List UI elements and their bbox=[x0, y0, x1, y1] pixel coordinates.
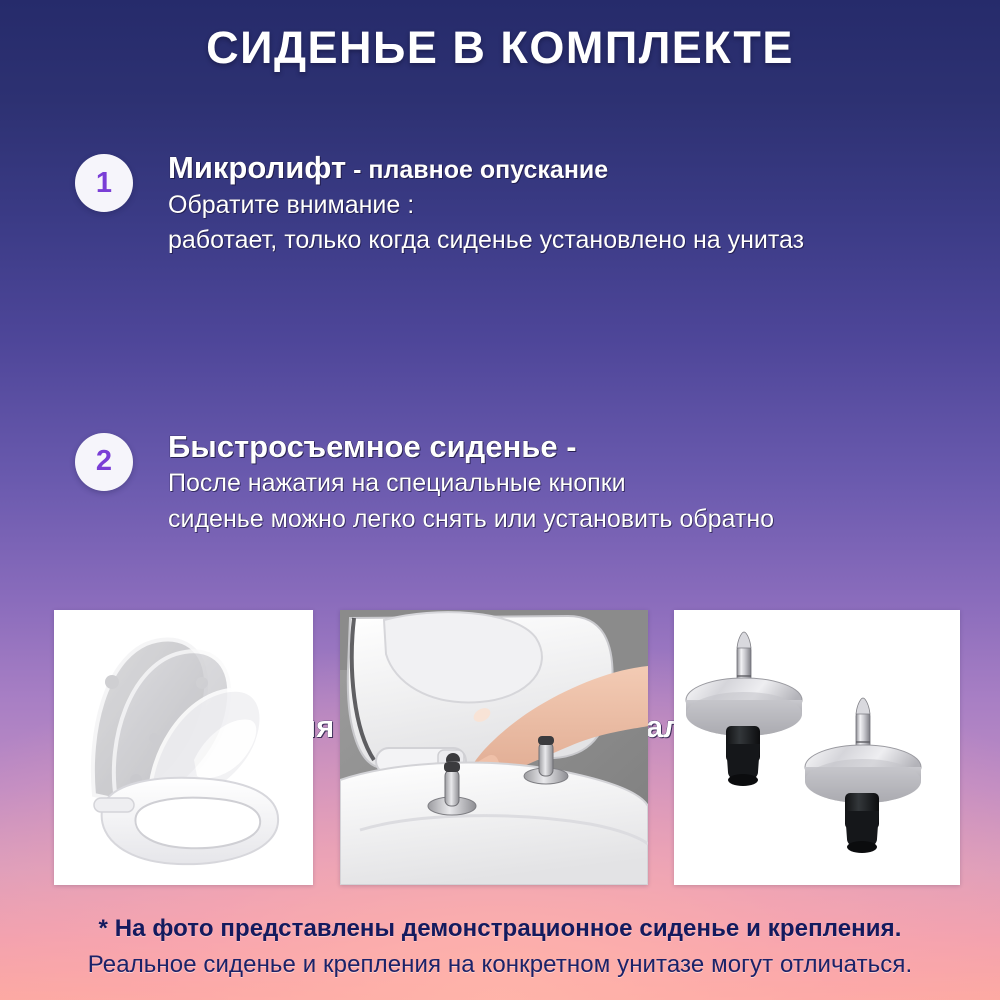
feature-number-badge-1: 1 bbox=[75, 154, 133, 212]
footer-disclaimer: * На фото представлены демонстрационное … bbox=[0, 912, 1000, 983]
quick-release-seat-photo bbox=[340, 610, 648, 885]
photo-panel-quick-release bbox=[340, 610, 648, 885]
footer-line-1: * На фото представлены демонстрационное … bbox=[0, 912, 1000, 947]
feature-heading-1: Микролифт - плавное опускание bbox=[168, 150, 1000, 186]
photo-panel-stainless-fixings bbox=[674, 610, 960, 885]
feature-item-microlift: 1 Микролифт - плавное опускание Обратите… bbox=[0, 150, 1000, 259]
header: СИДЕНЬЕ В КОМПЛЕКТЕ bbox=[0, 22, 1000, 74]
feature-number-badge-2: 2 bbox=[75, 433, 133, 491]
feature-title-1: Микролифт bbox=[168, 150, 346, 185]
soft-close-seat-photo bbox=[54, 610, 313, 885]
feature-line-2-1: сиденье можно легко снять или установить… bbox=[168, 502, 1000, 538]
photo-panel-soft-close-seat bbox=[54, 610, 313, 885]
feature-title-2: Быстросъемное сиденье - bbox=[168, 429, 577, 464]
photo-panel-row bbox=[54, 610, 960, 885]
feature-item-quick-release: 2 Быстросъемное сиденье - После нажатия … bbox=[0, 429, 1000, 538]
feature-heading-2: Быстросъемное сиденье - bbox=[168, 429, 1000, 465]
footer-line-2: Реальное сиденье и крепления на конкретн… bbox=[0, 947, 1000, 983]
feature-line-1-1: работает, только когда сиденье установле… bbox=[168, 223, 1000, 259]
feature-list: 1 Микролифт - плавное опускание Обратите… bbox=[0, 150, 1000, 433]
feature-line-2-0: После нажатия на специальные кнопки bbox=[168, 466, 1000, 502]
page-title: СИДЕНЬЕ В КОМПЛЕКТЕ bbox=[0, 22, 1000, 74]
feature-title-suffix-1: - плавное опускание bbox=[346, 156, 608, 184]
stainless-steel-fixings-photo bbox=[674, 610, 960, 885]
feature-line-1-0: Обратите внимание : bbox=[168, 188, 1000, 224]
